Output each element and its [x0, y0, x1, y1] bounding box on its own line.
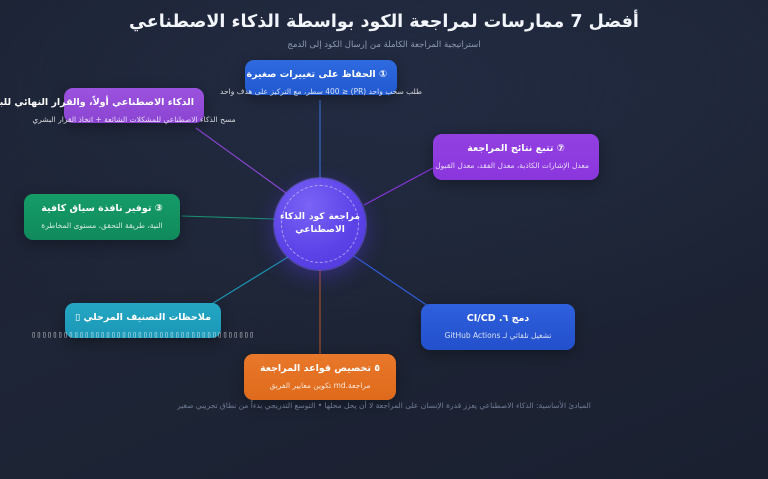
- page-header: أفضل 7 ممارسات لمراجعة الكود بواسطة الذك…: [0, 10, 768, 51]
- node-staged-rollout[interactable]: ملاحظات التصنيف المرحلي ▯ ▯▯▯▯▯▯▯▯▯▯▯▯▯▯…: [65, 303, 221, 338]
- node-description: النية، طريقة التحقق، مستوى المخاطرة: [34, 220, 170, 231]
- node-title: ① الحفاظ على تغييرات صغيرة: [255, 68, 387, 81]
- node-description: معدل الإشارات الكاذبة، معدل الفقد، معدل …: [443, 160, 589, 171]
- node-title: ③ توفير نافذة سياق كافية: [34, 202, 170, 215]
- connector-track-results: [364, 168, 433, 205]
- node-description: مراجعة.md تكوين معايير الفريق: [254, 380, 386, 391]
- node-title: ملاحظات التصنيف المرحلي ▯: [75, 311, 211, 324]
- node-context-window[interactable]: ③ توفير نافذة سياق كافية النية، طريقة ال…: [24, 194, 180, 240]
- mindmap-canvas: أفضل 7 ممارسات لمراجعة الكود بواسطة الذك…: [0, 0, 768, 479]
- node-title: الذكاء الاصطناعي أولاً، والقرار النهائي …: [74, 96, 194, 109]
- page-title: أفضل 7 ممارسات لمراجعة الكود بواسطة الذك…: [0, 10, 768, 34]
- node-title: ⑦ تتبع نتائج المراجعة: [443, 142, 589, 155]
- center-node[interactable]: مراجعة كود الذكاء الاصطناعي: [274, 178, 366, 270]
- center-node-label: مراجعة كود الذكاء الاصطناعي: [280, 211, 360, 237]
- page-subtitle: استراتيجية المراجعة الكاملة من إرسال الك…: [0, 39, 768, 51]
- node-cicd[interactable]: دمج ٦. CI/CD تشغيل تلقائي لـ GitHub Acti…: [421, 304, 575, 350]
- connector-context-window: [182, 216, 275, 219]
- node-ai-first[interactable]: الذكاء الاصطناعي أولاً، والقرار النهائي …: [64, 88, 204, 123]
- node-small-changes[interactable]: ① الحفاظ على تغييرات صغيرة طلب سحب واحد …: [245, 60, 397, 95]
- node-description: تشغيل تلقائي لـ GitHub Actions: [431, 330, 565, 341]
- connector-staged-rollout: [210, 257, 288, 305]
- node-track-results[interactable]: ⑦ تتبع نتائج المراجعة معدل الإشارات الكا…: [433, 134, 599, 180]
- node-custom-rules[interactable]: ٥ تخصيص قواعد المراجعة مراجعة.md تكوين م…: [244, 354, 396, 400]
- connector-cicd: [354, 256, 428, 306]
- node-title: دمج ٦. CI/CD: [431, 312, 565, 325]
- connector-ai-first: [196, 128, 286, 193]
- footer-note: المبادئ الأساسية: الذكاء الاصطناعي يعزز …: [0, 400, 768, 411]
- node-title: ٥ تخصيص قواعد المراجعة: [254, 362, 386, 375]
